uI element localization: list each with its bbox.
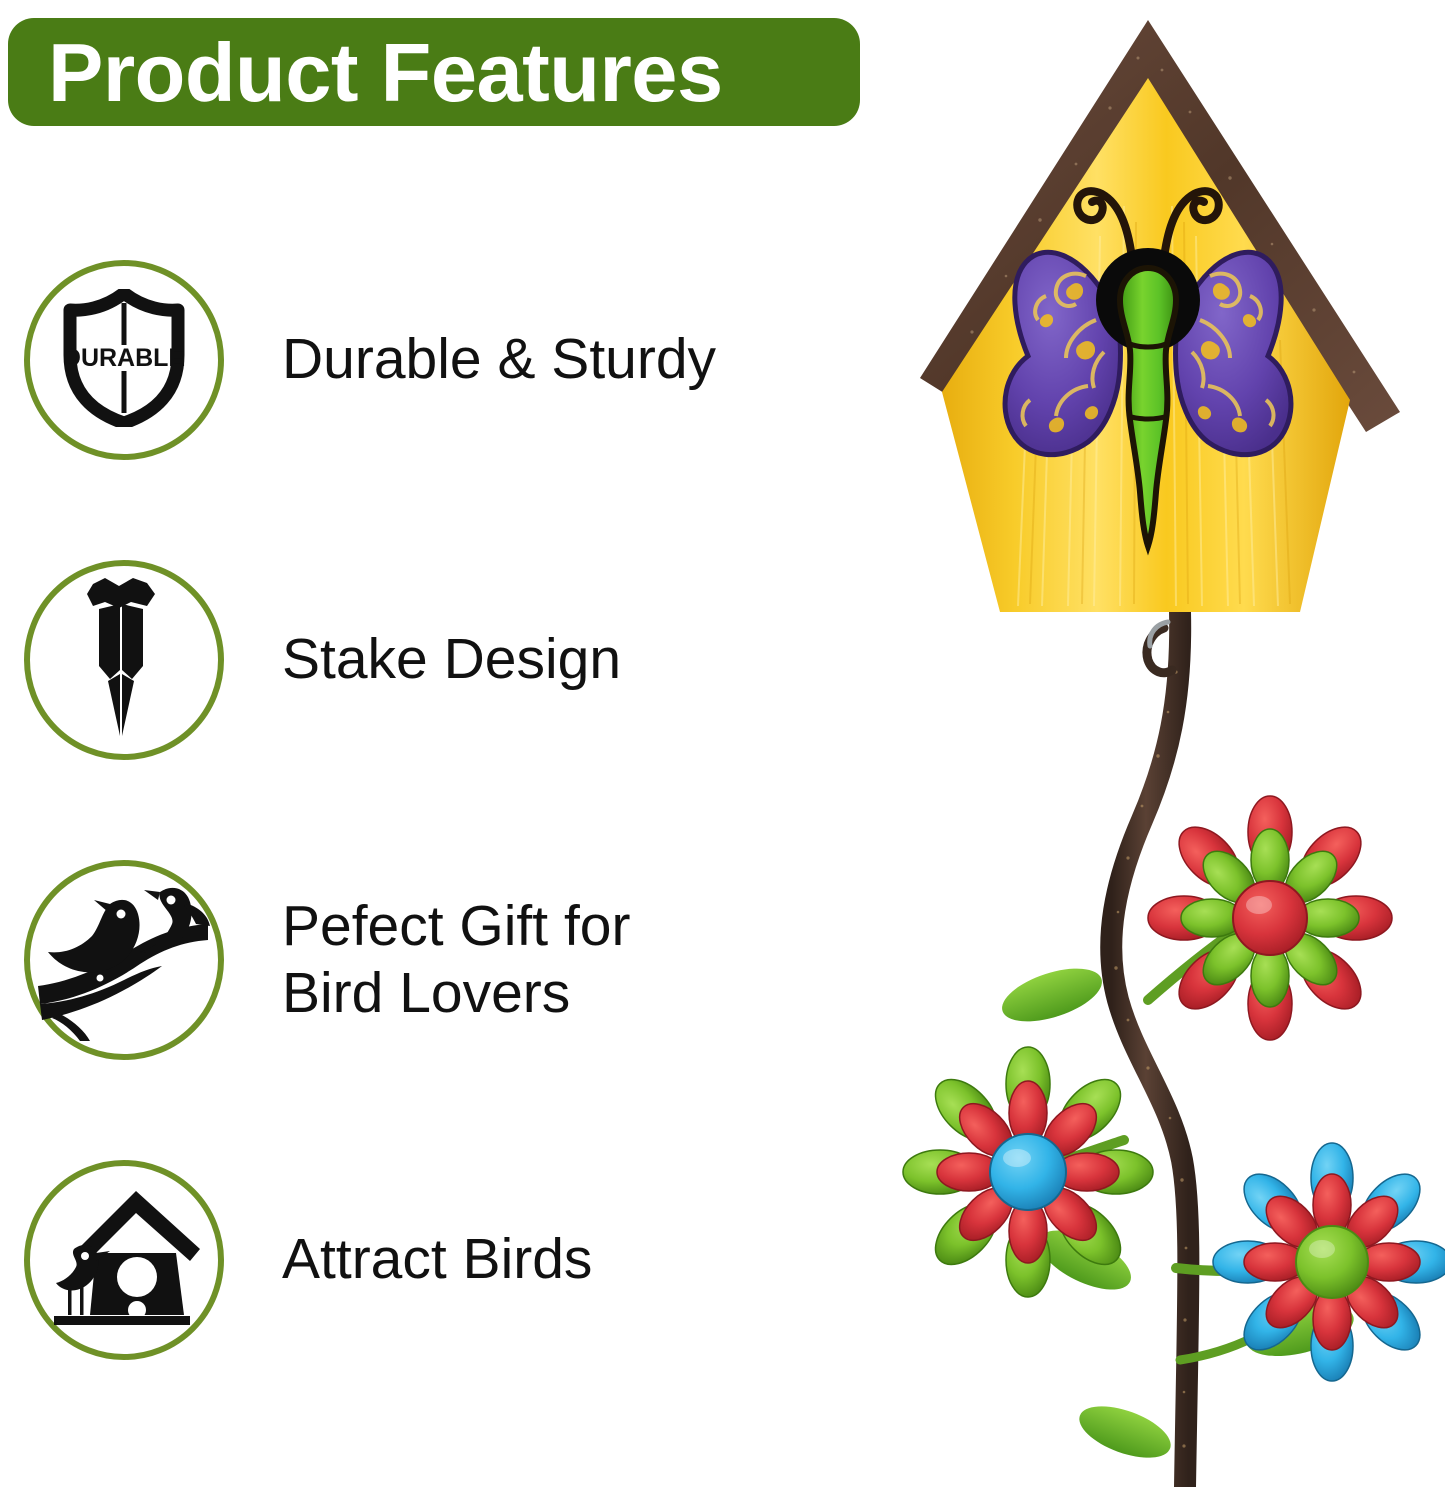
feature-row-attract: Attract Birds bbox=[0, 1160, 880, 1360]
feature-label: Pefect Gift for Bird Lovers bbox=[282, 893, 630, 1028]
feature-row-gift: Pefect Gift for Bird Lovers bbox=[0, 860, 880, 1060]
two-birds-on-branch-icon bbox=[38, 874, 210, 1047]
feature-icon-ring bbox=[24, 1160, 224, 1360]
birdhouse-body bbox=[920, 20, 1400, 612]
feature-icon-ring bbox=[24, 860, 224, 1060]
flower-center bbox=[1296, 1226, 1368, 1298]
flower-bottom-right bbox=[1213, 1143, 1445, 1381]
feature-row-durable: DURABLE Durable & Sturdy bbox=[0, 260, 880, 460]
birdhouse-with-bird-icon bbox=[44, 1183, 204, 1338]
feature-label: Durable & Sturdy bbox=[282, 326, 716, 393]
feature-label: Attract Birds bbox=[282, 1226, 592, 1293]
stake-spike-icon bbox=[69, 578, 179, 743]
butterfly-birdhouse-stake-illustration bbox=[880, 0, 1445, 1487]
shield-icon-text: DURABLE bbox=[63, 344, 185, 372]
product-image bbox=[880, 0, 1445, 1487]
feature-icon-ring: DURABLE bbox=[24, 260, 224, 460]
flower-top-right bbox=[1148, 796, 1392, 1040]
feature-row-stake: Stake Design bbox=[0, 560, 880, 760]
feature-label: Stake Design bbox=[282, 626, 621, 693]
flower-center bbox=[990, 1134, 1066, 1210]
page-title: Product Features bbox=[8, 31, 723, 114]
product-features-banner: Product Features bbox=[8, 18, 860, 126]
garden-stake-pole bbox=[1111, 612, 1188, 1487]
feature-icon-ring bbox=[24, 560, 224, 760]
flower-middle-left bbox=[903, 1047, 1153, 1297]
shield-durable-icon: DURABLE bbox=[60, 289, 188, 432]
flower-center bbox=[1233, 881, 1307, 955]
